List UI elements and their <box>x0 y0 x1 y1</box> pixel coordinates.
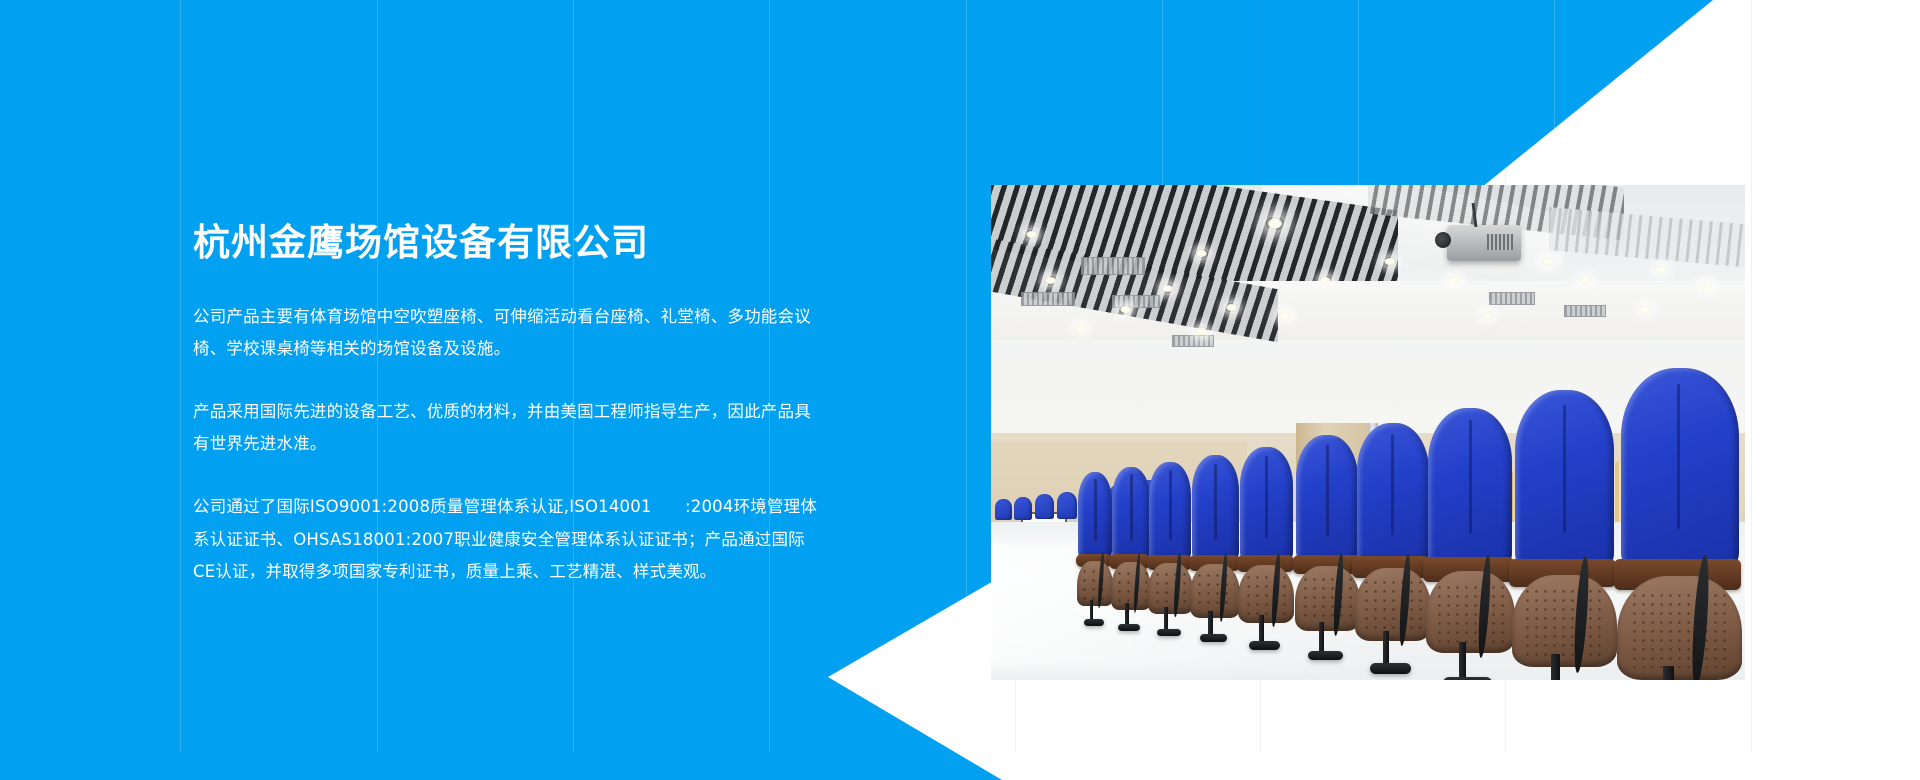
description-paragraph-3: 公司通过了国际ISO9001:2008质量管理体系认证,ISO14001 :20… <box>193 491 818 588</box>
gridline <box>1751 0 1752 752</box>
seat <box>1357 423 1429 666</box>
seat-foot <box>1370 663 1412 674</box>
seat-cushion <box>1295 566 1361 631</box>
banner-text-column: 杭州金鹰场馆设备有限公司 公司产品主要有体育场馆中空吹塑座椅、可伸缩活动看台座椅… <box>193 222 818 588</box>
seat-back <box>1428 408 1512 566</box>
seat-row-near <box>991 185 1745 680</box>
page-title: 杭州金鹰场馆设备有限公司 <box>193 222 818 263</box>
seat-cushion <box>1617 576 1742 680</box>
seat-foot <box>1443 677 1492 680</box>
seat-back <box>1515 390 1614 568</box>
seat-cushion <box>1426 571 1515 653</box>
auditorium-photo <box>991 185 1745 680</box>
description-paragraph-1: 公司产品主要有体育场馆中空吹塑座椅、可伸缩活动看台座椅、礼堂椅、多功能会议椅、学… <box>193 301 818 365</box>
seat-leg <box>1663 666 1674 680</box>
seat-cushion <box>1512 575 1617 667</box>
seat <box>1296 435 1358 653</box>
seat <box>1515 390 1614 680</box>
seat-leg <box>1551 654 1560 680</box>
seat-back <box>1357 423 1429 564</box>
seat <box>1621 368 1739 680</box>
description-paragraph-2: 产品采用国际先进的设备工艺、优质的材料，并由美国工程师指导生产，因此产品具有世界… <box>193 396 818 460</box>
gridline <box>1751 0 1752 752</box>
seat-back <box>1621 368 1739 569</box>
hero-banner: 杭州金鹰场馆设备有限公司 公司产品主要有体育场馆中空吹塑座椅、可伸缩活动看台座椅… <box>0 0 1920 780</box>
seat-foot <box>1308 651 1344 661</box>
seat-back <box>1296 435 1358 561</box>
seat-cushion <box>1355 568 1431 641</box>
seat-leg <box>1459 642 1467 680</box>
seat <box>1428 408 1512 680</box>
photo-content <box>991 185 1745 680</box>
